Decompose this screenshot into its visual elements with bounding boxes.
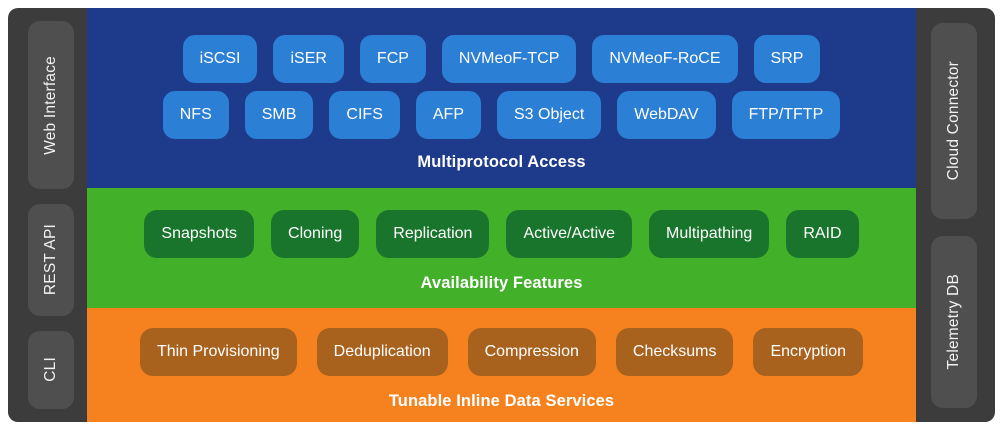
chip-label: Compression xyxy=(485,343,579,361)
chip-label: AFP xyxy=(433,106,464,124)
chip-fcp[interactable]: FCP xyxy=(360,35,426,83)
rail-item-web-interface[interactable]: Web Interface xyxy=(28,21,74,189)
chip-ftp-tftp[interactable]: FTP/TFTP xyxy=(732,91,841,139)
chip-cifs[interactable]: CIFS xyxy=(329,91,399,139)
chip-s3-object[interactable]: S3 Object xyxy=(497,91,601,139)
chip-label: NFS xyxy=(180,106,212,124)
data-services-row-1: Thin Provisioning Deduplication Compress… xyxy=(87,328,916,376)
chip-compression[interactable]: Compression xyxy=(468,328,596,376)
chip-label: NVMeoF-RoCE xyxy=(609,50,720,68)
rail-item-label: Web Interface xyxy=(42,56,60,155)
rail-item-cli[interactable]: CLI xyxy=(28,331,74,409)
chip-label: Active/Active xyxy=(523,225,615,243)
chip-label: RAID xyxy=(803,225,841,243)
chip-active-active[interactable]: Active/Active xyxy=(506,210,632,258)
multiprotocol-row-2: NFS SMB CIFS AFP S3 Object WebDAV FTP/TF… xyxy=(87,91,916,139)
chip-iscsi[interactable]: iSCSI xyxy=(183,35,258,83)
chip-label: FTP/TFTP xyxy=(749,106,824,124)
layer-title-data-services: Tunable Inline Data Services xyxy=(389,392,614,411)
left-rail: Web Interface REST API CLI xyxy=(8,8,87,422)
chip-afp[interactable]: AFP xyxy=(416,91,481,139)
chip-label: Deduplication xyxy=(334,343,431,361)
chip-label: FCP xyxy=(377,50,409,68)
chip-label: Encryption xyxy=(770,343,846,361)
chip-thin-provisioning[interactable]: Thin Provisioning xyxy=(140,328,297,376)
chip-label: Multipathing xyxy=(666,225,752,243)
chip-snapshots[interactable]: Snapshots xyxy=(144,210,254,258)
rail-item-cloud-connector[interactable]: Cloud Connector xyxy=(931,23,977,219)
layer-multiprotocol-access: iSCSI iSER FCP NVMeoF-TCP NVMeoF-RoCE SR… xyxy=(87,8,916,188)
chip-iser[interactable]: iSER xyxy=(273,35,343,83)
chip-deduplication[interactable]: Deduplication xyxy=(317,328,448,376)
layer-tunable-inline-data-services: Thin Provisioning Deduplication Compress… xyxy=(87,308,916,422)
chip-label: Thin Provisioning xyxy=(157,343,280,361)
chip-checksums[interactable]: Checksums xyxy=(616,328,734,376)
chip-label: SRP xyxy=(771,50,804,68)
right-rail: Cloud Connector Telemetry DB xyxy=(916,8,995,422)
chip-label: NVMeoF-TCP xyxy=(459,50,559,68)
diagram-frame: Web Interface REST API CLI iSCSI iSER FC… xyxy=(8,8,995,422)
chip-replication[interactable]: Replication xyxy=(376,210,489,258)
chip-label: Checksums xyxy=(633,343,717,361)
chip-encryption[interactable]: Encryption xyxy=(753,328,863,376)
rail-item-label: Cloud Connector xyxy=(945,61,963,180)
chip-label: Replication xyxy=(393,225,472,243)
chip-label: WebDAV xyxy=(634,106,698,124)
layer-stack: iSCSI iSER FCP NVMeoF-TCP NVMeoF-RoCE SR… xyxy=(87,8,916,422)
chip-srp[interactable]: SRP xyxy=(754,35,821,83)
chip-cloning[interactable]: Cloning xyxy=(271,210,359,258)
layer-title-multiprotocol: Multiprotocol Access xyxy=(417,153,585,172)
rail-item-label: CLI xyxy=(42,357,60,382)
availability-row-1: Snapshots Cloning Replication Active/Act… xyxy=(87,210,916,258)
rail-item-label: REST API xyxy=(42,224,60,295)
chip-label: S3 Object xyxy=(514,106,584,124)
chip-label: CIFS xyxy=(346,106,382,124)
chip-label: Cloning xyxy=(288,225,342,243)
chip-nfs[interactable]: NFS xyxy=(163,91,229,139)
rail-item-telemetry-db[interactable]: Telemetry DB xyxy=(931,236,977,408)
chip-label: iSER xyxy=(290,50,326,68)
multiprotocol-row-1: iSCSI iSER FCP NVMeoF-TCP NVMeoF-RoCE SR… xyxy=(87,35,916,83)
rail-item-label: Telemetry DB xyxy=(945,274,963,369)
chip-nvmeof-tcp[interactable]: NVMeoF-TCP xyxy=(442,35,576,83)
chip-label: iSCSI xyxy=(200,50,241,68)
chip-label: Snapshots xyxy=(161,225,237,243)
rail-item-rest-api[interactable]: REST API xyxy=(28,204,74,316)
layer-availability-features: Snapshots Cloning Replication Active/Act… xyxy=(87,188,916,308)
chip-multipathing[interactable]: Multipathing xyxy=(649,210,769,258)
chip-nvmeof-roce[interactable]: NVMeoF-RoCE xyxy=(592,35,737,83)
chip-smb[interactable]: SMB xyxy=(245,91,314,139)
chip-label: SMB xyxy=(262,106,297,124)
chip-webdav[interactable]: WebDAV xyxy=(617,91,715,139)
layer-title-availability: Availability Features xyxy=(421,274,583,293)
architecture-diagram: Web Interface REST API CLI iSCSI iSER FC… xyxy=(0,0,1003,433)
chip-raid[interactable]: RAID xyxy=(786,210,858,258)
